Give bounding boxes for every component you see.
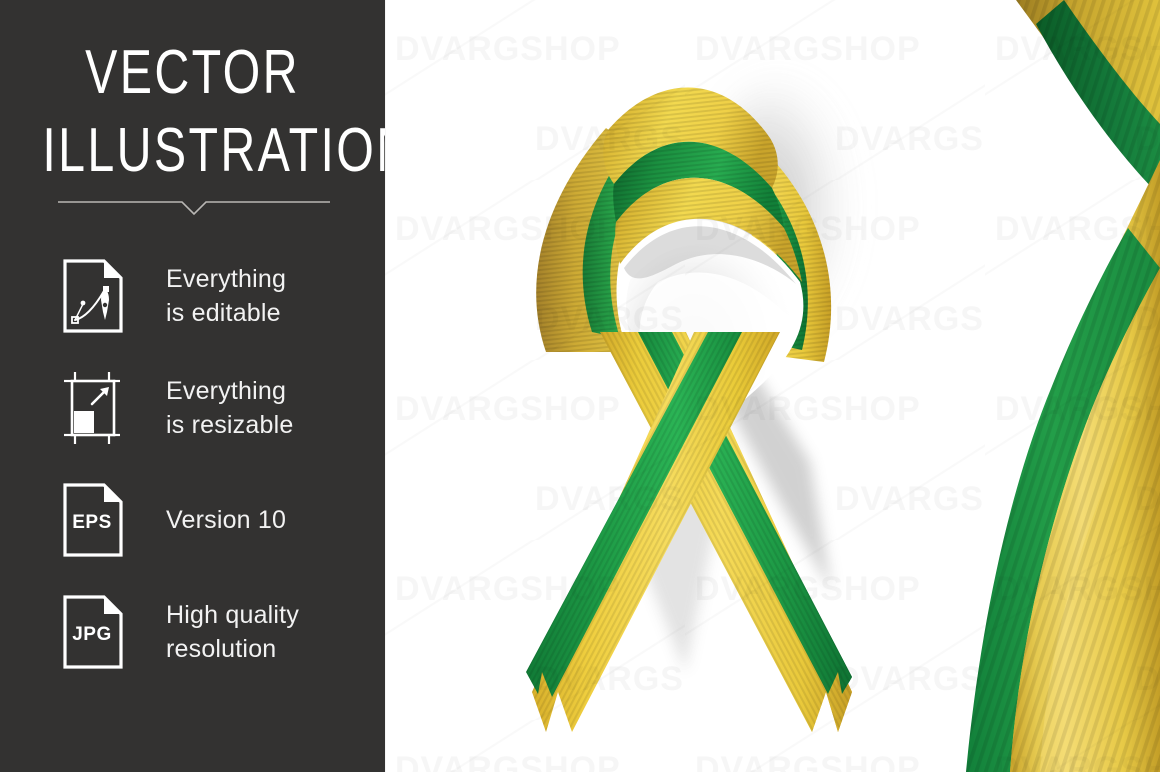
panel-seam	[385, 0, 386, 772]
title-line-vector: VECTOR	[42, 42, 342, 104]
doc-type-label: EPS	[62, 482, 124, 558]
page-title: VECTOR ILLUSTRATION	[0, 42, 385, 182]
list-item: Everything is resizable	[0, 352, 385, 464]
feature-label: Everything is resizable	[166, 374, 293, 443]
resize-crop-arrow-icon	[62, 370, 124, 446]
feature-label: High quality resolution	[166, 598, 299, 667]
list-item: Everything is editable	[0, 240, 385, 352]
title-divider	[58, 196, 330, 218]
artwork-panel: DVARGSHOP DVARGSHOP	[385, 0, 1160, 772]
feature-list: Everything is editable	[0, 240, 385, 688]
doc-type-label: JPG	[62, 594, 124, 670]
feature-label: Everything is editable	[166, 262, 286, 331]
info-sidebar: VECTOR ILLUSTRATION	[0, 0, 385, 772]
doc-type-label	[62, 258, 124, 334]
doc-type-label	[62, 370, 124, 446]
list-item: JPG High quality resolution	[0, 576, 385, 688]
ribbon-full-view	[480, 32, 900, 772]
promo-graphic: DVARGSHOP DVARGSHOP VECTOR ILLUSTRATION	[0, 0, 1160, 772]
eps-file-icon: EPS	[62, 482, 124, 558]
title-line-illustration: ILLUSTRATION	[42, 120, 342, 182]
document-pen-bezier-icon	[62, 258, 124, 334]
list-item: EPS Version 10	[0, 464, 385, 576]
jpg-file-icon: JPG	[62, 594, 124, 670]
feature-label: Version 10	[166, 503, 286, 538]
ribbon-zoom-detail	[960, 0, 1160, 772]
